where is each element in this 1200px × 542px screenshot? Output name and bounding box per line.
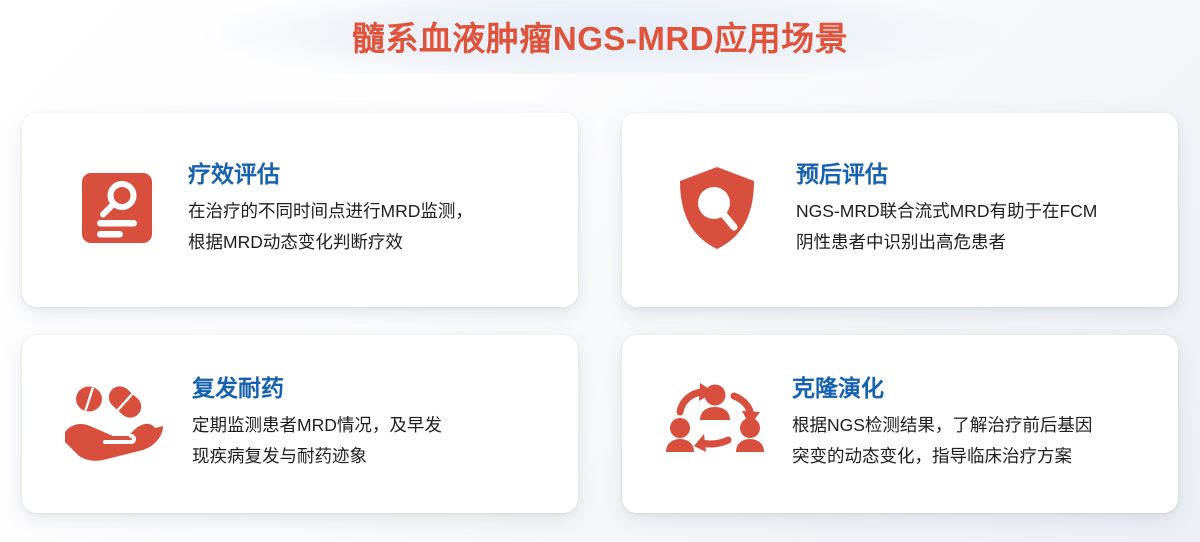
card-body: 定期监测患者MRD情况，及早发 现疾病复发与耐药迹象: [192, 410, 560, 472]
card-text-container: 复发耐药 定期监测患者MRD情况，及早发 现疾病复发与耐药迹象: [192, 376, 578, 472]
card-heading: 克隆演化: [792, 376, 1160, 401]
hand-pills-icon: [63, 380, 167, 469]
document-magnifier-icon: [80, 171, 154, 250]
card-clonal-evolution[interactable]: 克隆演化 根据NGS检测结果，了解治疗前后基因 突变的动态变化，指导临床治疗方案: [622, 335, 1178, 513]
card-body: NGS-MRD联合流式MRD有助于在FCM 阴性患者中识别出高危患者: [796, 196, 1160, 258]
card-text-container: 预后评估 NGS-MRD联合流式MRD有助于在FCM 阴性患者中识别出高危患者: [796, 162, 1178, 258]
card-text-container: 克隆演化 根据NGS检测结果，了解治疗前后基因 突变的动态变化，指导临床治疗方案: [792, 376, 1178, 472]
card-prognosis-evaluation[interactable]: 预后评估 NGS-MRD联合流式MRD有助于在FCM 阴性患者中识别出高危患者: [622, 113, 1178, 307]
card-icon-container: [656, 380, 774, 469]
card-efficacy-evaluation[interactable]: 疗效评估 在治疗的不同时间点进行MRD监测， 根据MRD动态变化判断疗效: [22, 113, 578, 307]
card-heading: 预后评估: [796, 162, 1160, 187]
card-heading: 复发耐药: [192, 376, 560, 401]
card-heading: 疗效评估: [188, 162, 560, 187]
card-relapse-drug-resistance[interactable]: 复发耐药 定期监测患者MRD情况，及早发 现疾病复发与耐药迹象: [22, 335, 578, 513]
card-body: 根据NGS检测结果，了解治疗前后基因 突变的动态变化，指导临床治疗方案: [792, 410, 1160, 472]
page-header: 髓系血液肿瘤NGS-MRD应用场景: [0, 0, 1200, 74]
shield-magnifier-icon: [676, 165, 758, 256]
page-title: 髓系血液肿瘤NGS-MRD应用场景: [352, 22, 848, 55]
card-text-container: 疗效评估 在治疗的不同时间点进行MRD监测， 根据MRD动态变化判断疗效: [188, 162, 578, 258]
card-icon-container: [58, 171, 176, 250]
card-icon-container: [658, 165, 776, 256]
card-body: 在治疗的不同时间点进行MRD监测， 根据MRD动态变化判断疗效: [188, 196, 560, 258]
card-icon-container: [56, 380, 174, 469]
people-cycle-icon: [664, 380, 766, 469]
